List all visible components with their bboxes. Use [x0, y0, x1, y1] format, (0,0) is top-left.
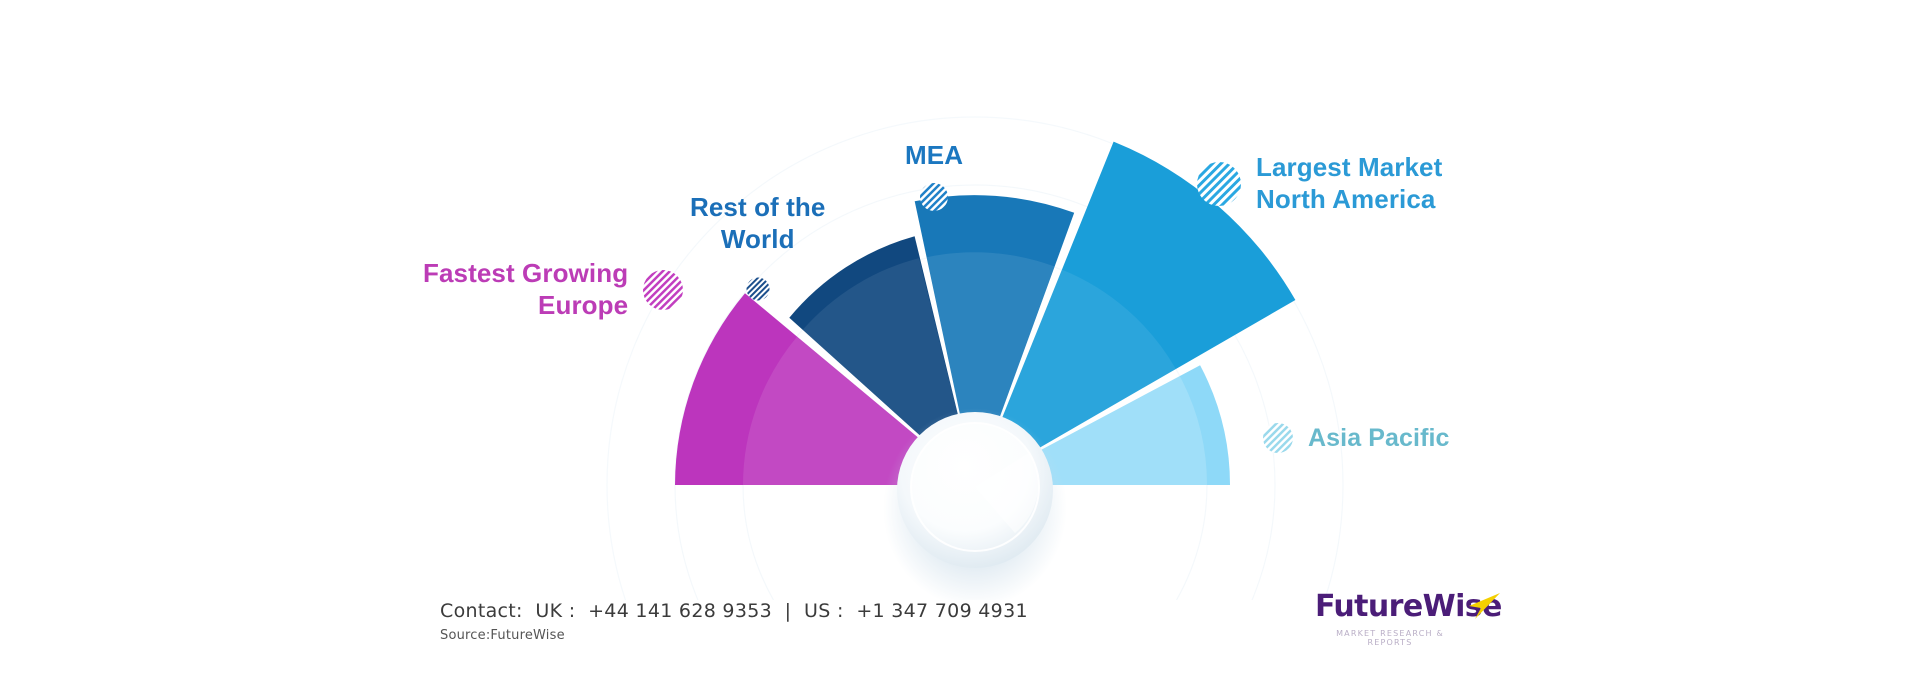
regional-market-share-infographic: Largest Market North America MEA Rest of…: [0, 0, 1920, 684]
label-asia-pacific-text: Asia Pacific: [1308, 423, 1450, 454]
footer: Contact: UK : +44 141 628 9353 | US : +1…: [0, 584, 1920, 684]
rose-chart-stage: Largest Market North America MEA Rest of…: [0, 0, 1920, 600]
label-mea-text: MEA: [905, 140, 963, 172]
contact-line: Contact: UK : +44 141 628 9353 | US : +1…: [440, 600, 1028, 622]
label-line-1: Rest of the: [690, 192, 825, 224]
hatched-circle-icon: [642, 269, 684, 311]
label-line-2: North America: [1256, 184, 1442, 216]
hatched-circle-icon: [1196, 161, 1242, 207]
hatched-circle-icon-asia-pacific: [1262, 422, 1294, 454]
hatched-circle-icon: [746, 277, 770, 301]
label-europe-text: Fastest Growing Europe: [423, 258, 628, 321]
label-line-1: Asia Pacific: [1308, 423, 1450, 454]
label-asia-pacific[interactable]: Asia Pacific: [1262, 422, 1450, 454]
logo-tagline: MARKET RESEARCH & REPORTS: [1315, 629, 1465, 647]
hatched-circle-icon-europe: [642, 269, 684, 311]
label-north-america-text: Largest Market North America: [1256, 152, 1442, 215]
label-north-america[interactable]: Largest Market North America: [1196, 152, 1442, 215]
rose-chart-svg: [0, 0, 1920, 600]
chart-center-hub: [883, 408, 1067, 600]
hatched-circle-icon: [1262, 422, 1294, 454]
label-line-2: World: [690, 224, 825, 256]
label-line-1: Fastest Growing: [423, 258, 628, 290]
label-line-1: MEA: [905, 140, 963, 172]
arrow-swoosh-icon: [1459, 590, 1503, 622]
contact-block: Contact: UK : +44 141 628 9353 | US : +1…: [440, 600, 1028, 643]
label-rest-of-the-world[interactable]: Rest of the World: [690, 192, 825, 301]
hatched-circle-icon-mea: [919, 182, 949, 212]
label-line-2: Europe: [423, 290, 628, 322]
futurewise-logo[interactable]: FutureWise MARKET RESEARCH & REPORTS: [1315, 592, 1505, 654]
label-rest-of-the-world-text: Rest of the World: [690, 192, 825, 255]
hatched-circle-icon-north-america: [1196, 161, 1242, 207]
source-line: Source:FutureWise: [440, 628, 1028, 643]
hatched-circle-icon-rest-of-the-world: [746, 277, 770, 301]
label-mea[interactable]: MEA: [905, 140, 963, 212]
hatched-circle-icon: [919, 182, 949, 212]
label-line-1: Largest Market: [1256, 152, 1442, 184]
label-europe[interactable]: Fastest Growing Europe: [423, 258, 684, 321]
